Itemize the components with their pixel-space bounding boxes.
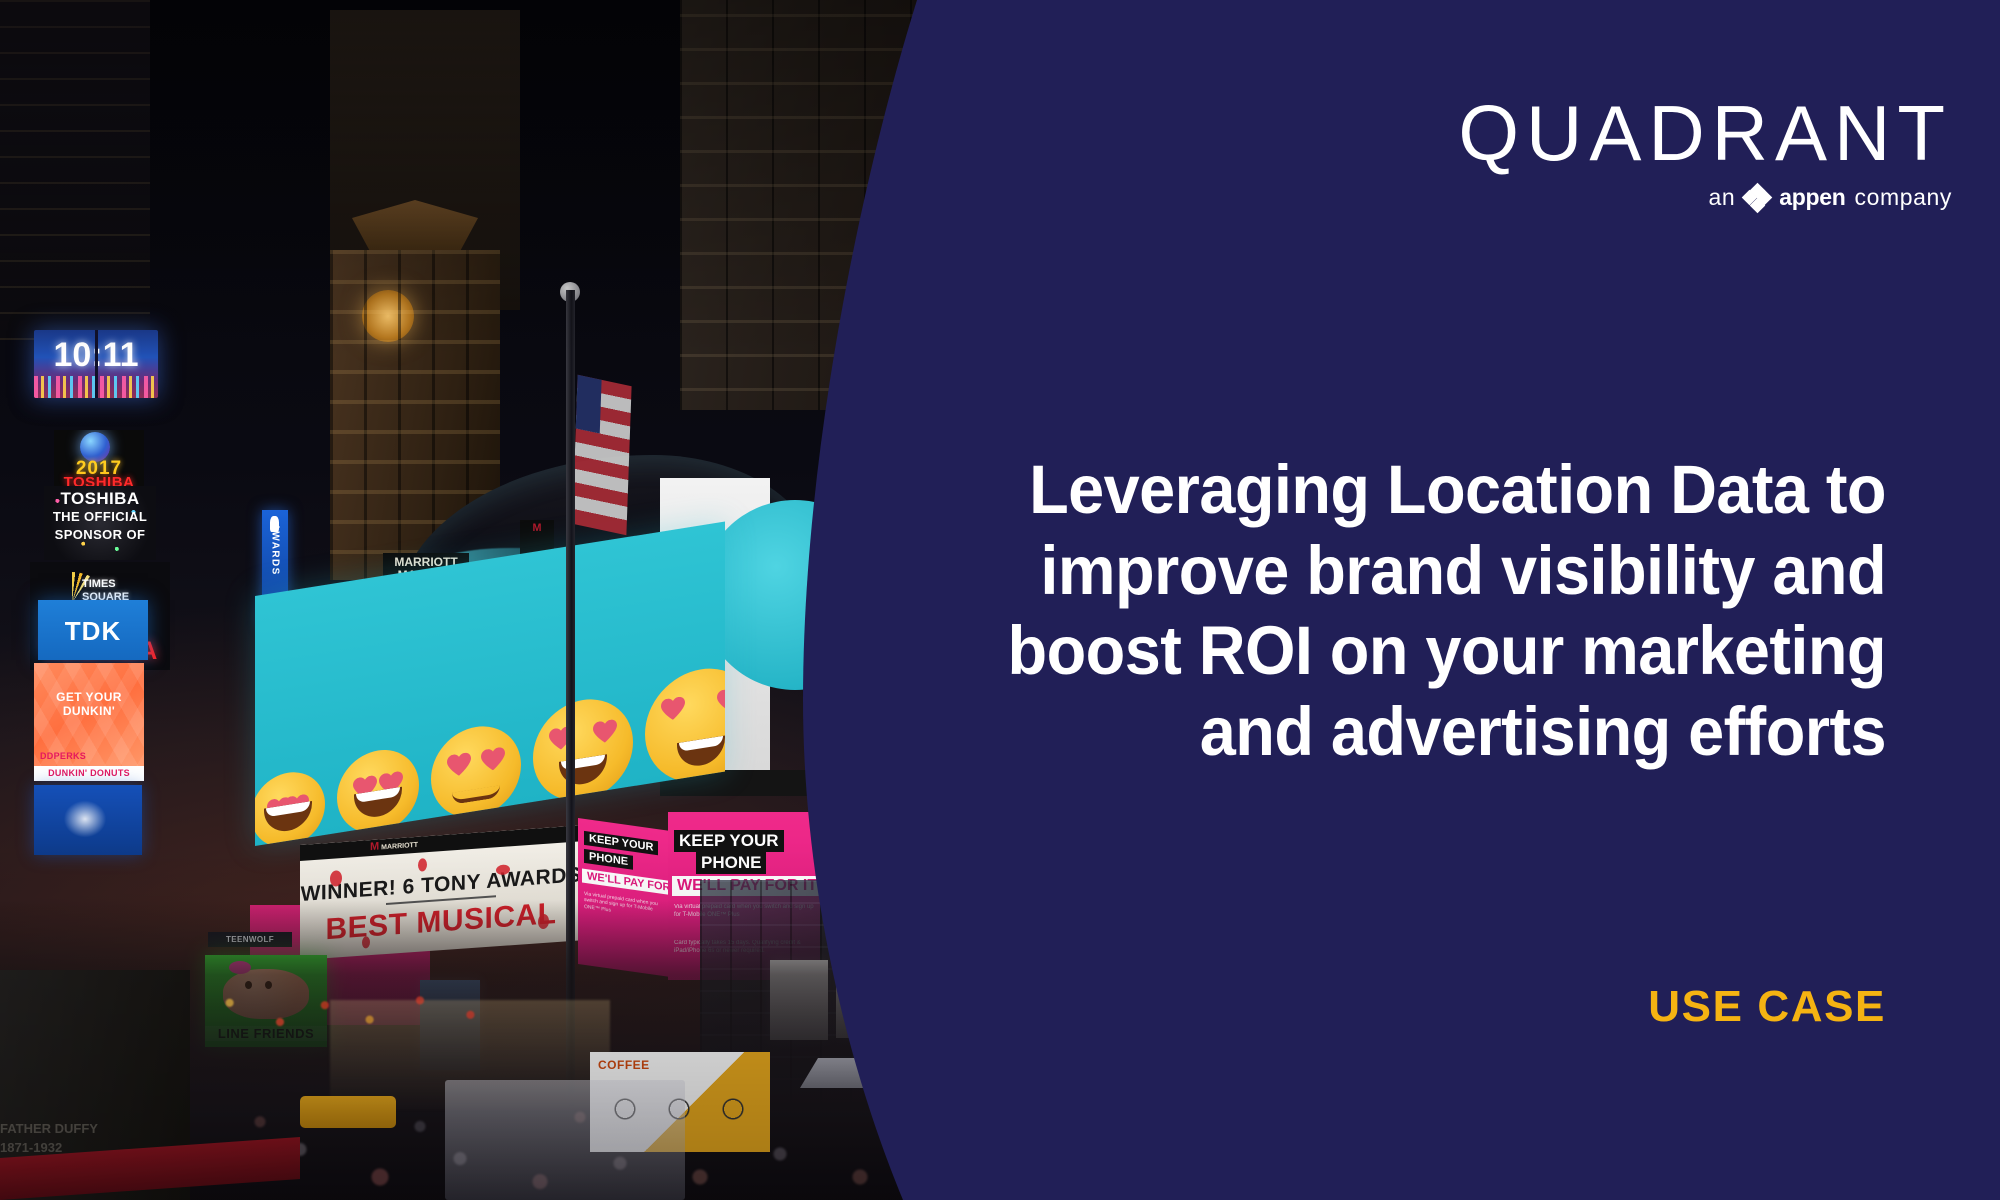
us-flag-icon [572,375,631,535]
paint-splat [418,858,427,872]
marriott-m-icon-corner: M [533,522,542,534]
coffee-label: COFFEE [598,1058,650,1072]
heart-eyes-emoji-icon [337,744,419,839]
emoji-mouth [452,785,500,805]
dunkin-perks: DDPERKS [40,751,86,761]
emoji-mouth [677,736,725,770]
building-left [0,0,150,340]
tdk-text: TDK [38,616,148,647]
heart-eyes-emoji-icon [431,720,521,824]
billboard-clock: 10:11 [34,330,158,398]
marriott-strip-label: M MARRIOTT [370,838,418,853]
page-title: Leveraging Location Data to improve bran… [890,450,1886,773]
heart-eye-right-icon [717,687,725,713]
marriott-m-icon-strip: M [370,840,379,853]
brand-logo: QUADRANT an appen company [1458,94,1952,211]
use-case-label: USE CASE [1648,982,1886,1032]
appen-tagline: an appen company [1458,184,1952,211]
use-case-cover-slide: 10:11 2017 TOSHIBA TOSHIBA THE OFFICIAL … [0,0,2000,1200]
heart-eye-right-icon [593,719,617,745]
heart-eyes-emoji-icon [645,660,725,790]
dunkin-line-2: DUNKIN' [34,705,144,718]
billboard-blue-lower [34,785,142,855]
tagline-prefix: an [1708,184,1735,211]
emoji-row [255,571,725,846]
quadrant-wordmark: QUADRANT [1458,94,1952,172]
clock-skyline-graphic [34,376,158,398]
sponsor-line-3: SPONSOR OF [44,528,156,542]
tmobile-b-line-1: KEEP YOUR [674,830,784,852]
street-kiosk [445,1080,685,1200]
appen-diamond-cluster-icon [1744,185,1770,211]
heart-eye-right-icon [481,746,505,772]
heart-eyes-emoji-icon [255,767,325,846]
tagline-suffix: company [1854,184,1952,211]
marriott-strip-text: MARRIOTT [381,842,418,852]
billboard-dunkin: GET YOUR DUNKIN' DDPERKS DUNKIN' DONUTS [34,663,144,781]
ts-line-1: TIMES [82,578,116,590]
awards-text: AWARDS [270,523,281,575]
monument-line-2: 1871-1932 [0,1140,62,1155]
heart-eye-left-icon [661,696,685,722]
tmobile-b-line-2: PHONE [696,852,766,874]
monument-line-1: FATHER DUFFY [0,1121,98,1136]
heart-eye-left-icon [447,752,471,778]
billboard-emoji [255,522,725,846]
sponsor-line-1: TOSHIBA [44,490,156,508]
billboard-newyear-ball: 2017 TOSHIBA [54,430,144,490]
tmobile-a-line-2: PHONE [584,849,633,870]
dunkin-line-1: GET YOUR [34,691,144,704]
heart-eyes-emoji-icon [533,692,633,808]
dunkin-donuts-footer: DUNKIN' DONUTS [34,766,144,781]
sponsor-line-2: THE OFFICIAL [44,510,156,524]
billboard-toshiba-sponsor: TOSHIBA THE OFFICIAL SPONSOR OF [44,486,156,560]
tagline-brand: appen [1779,184,1845,211]
billboard-tdk: TDK [38,600,148,660]
